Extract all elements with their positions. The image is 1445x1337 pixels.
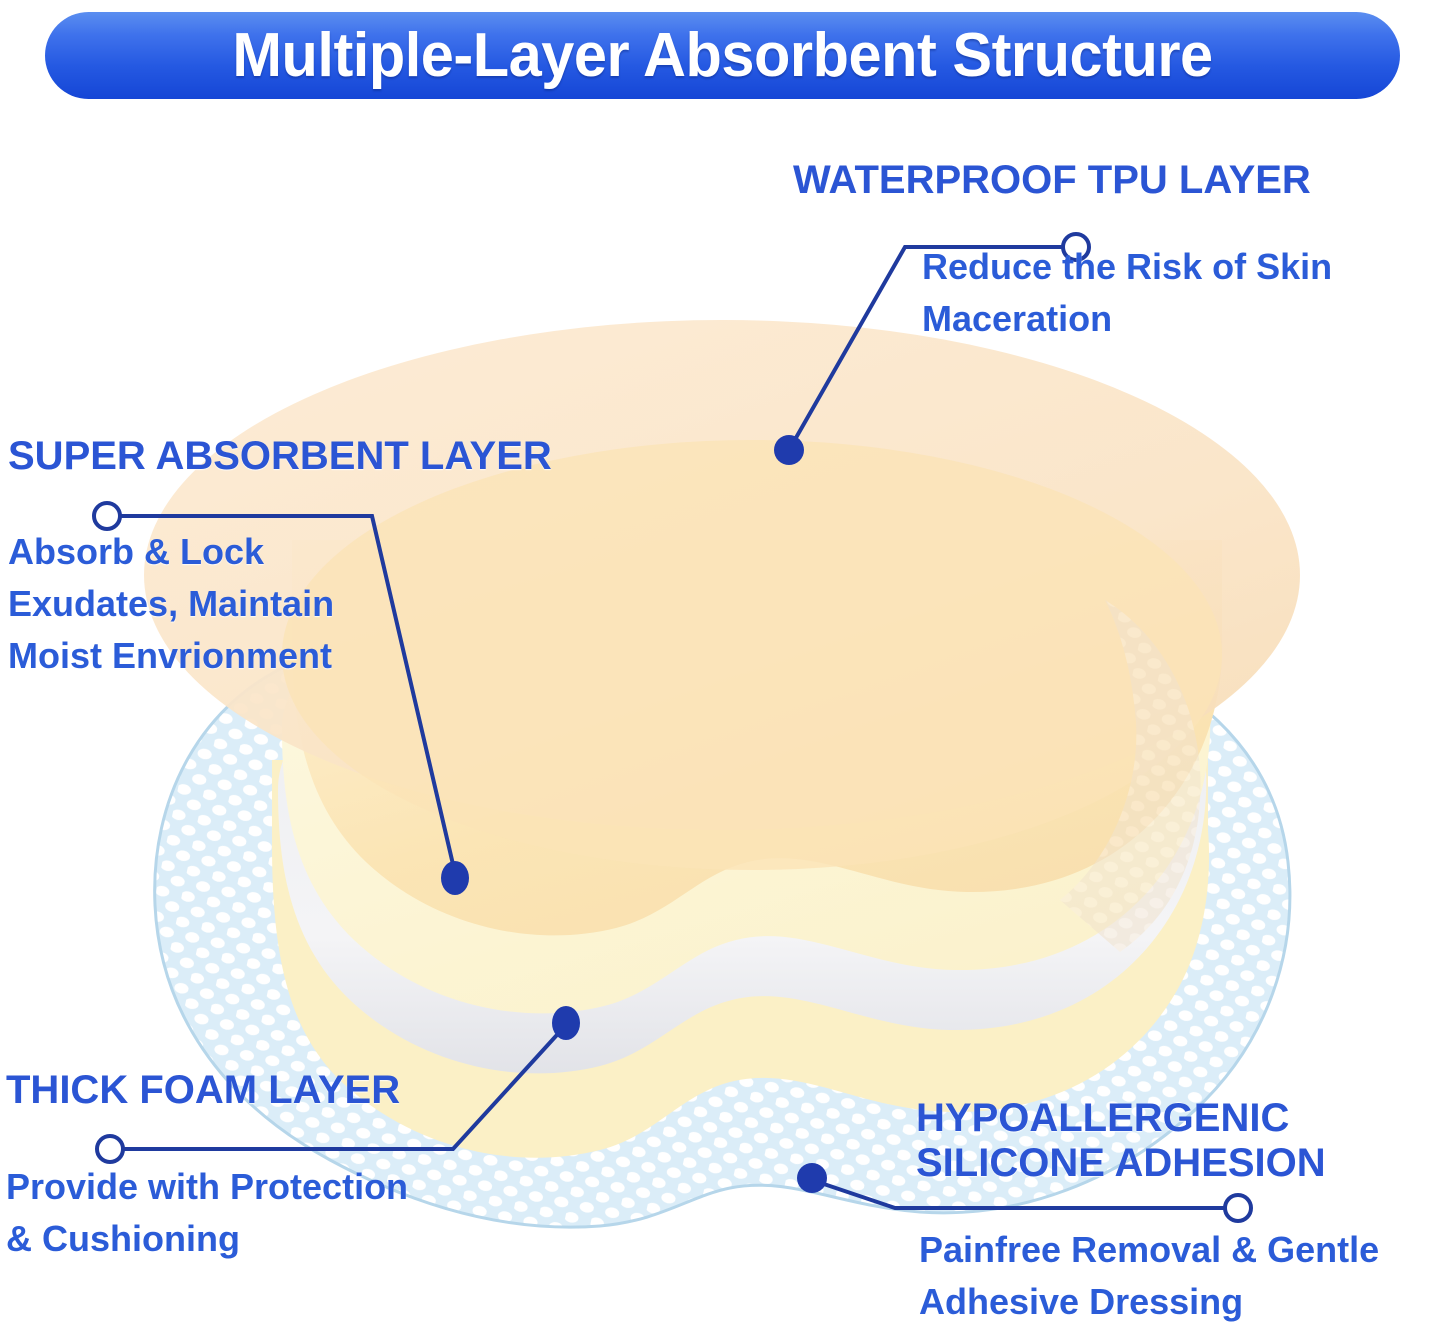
callout-heading-foam: THICK FOAM LAYER — [6, 1068, 606, 1113]
leader-dot-foam — [552, 1006, 580, 1040]
callout-thick-foam: THICK FOAM LAYER Provide with Protection… — [6, 1068, 606, 1265]
leader-dot-absorbent — [441, 861, 469, 895]
callout-heading-absorbent: SUPER ABSORBENT LAYER — [8, 434, 648, 479]
callout-body-absorbent: Absorb & Lock Exudates, Maintain Moist E… — [8, 526, 648, 683]
gray-foam-band — [278, 618, 1206, 1074]
callout-super-absorbent: SUPER ABSORBENT LAYER Absorb & Lock Exud… — [8, 434, 648, 682]
page-title: Multiple-Layer Absorbent Structure — [232, 25, 1212, 87]
callout-heading-tpu: WATERPROOF TPU LAYER — [793, 158, 1413, 203]
callout-body-silicone: Painfree Removal & Gentle Adhesive Dress… — [919, 1224, 1445, 1328]
leader-dot-tpu — [774, 435, 804, 465]
callout-body-tpu: Reduce the Risk of Skin Maceration — [922, 241, 1413, 345]
title-banner: Multiple-Layer Absorbent Structure — [45, 12, 1400, 99]
callout-body-foam: Provide with Protection & Cushioning — [6, 1161, 606, 1265]
callout-heading-silicone: HYPOALLERGENIC SILICONE ADHESION — [916, 1096, 1445, 1186]
leader-dot-silicone — [797, 1163, 827, 1193]
callout-hypoallergenic-silicone: HYPOALLERGENIC SILICONE ADHESION Painfre… — [916, 1096, 1445, 1328]
callout-waterproof-tpu: WATERPROOF TPU LAYER Reduce the Risk of … — [793, 158, 1413, 345]
